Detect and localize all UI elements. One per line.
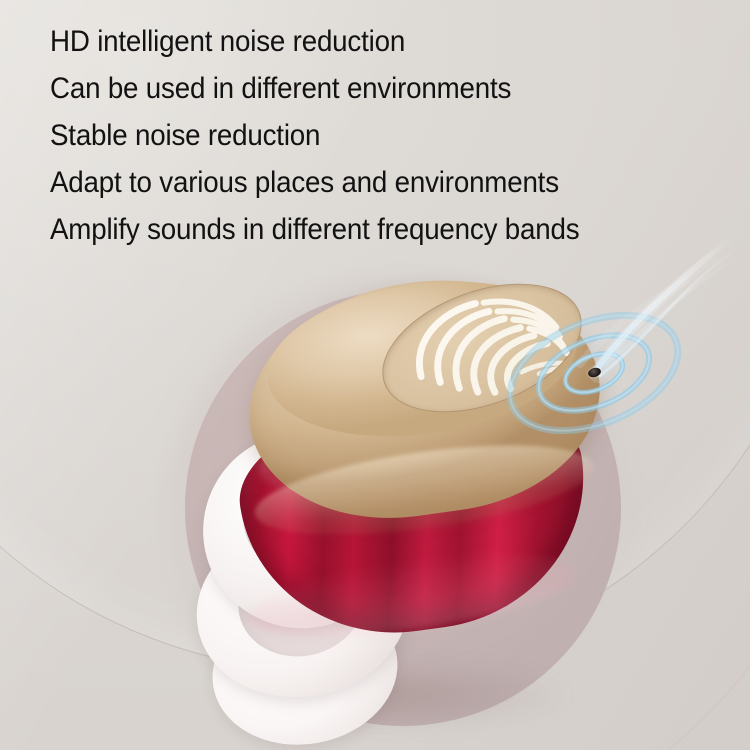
product-feature-graphic: HD intelligent noise reduction Can be us… xyxy=(0,0,750,750)
feature-line-4: Adapt to various places and environments xyxy=(50,159,699,206)
feature-line-2: Can be used in different environments xyxy=(50,65,699,112)
backdrop-disc xyxy=(185,290,621,726)
feature-line-1: HD intelligent noise reduction xyxy=(50,18,699,65)
feature-line-5: Amplify sounds in different frequency ba… xyxy=(50,206,699,253)
feature-line-3: Stable noise reduction xyxy=(50,112,699,159)
feature-list: HD intelligent noise reduction Can be us… xyxy=(50,18,740,253)
